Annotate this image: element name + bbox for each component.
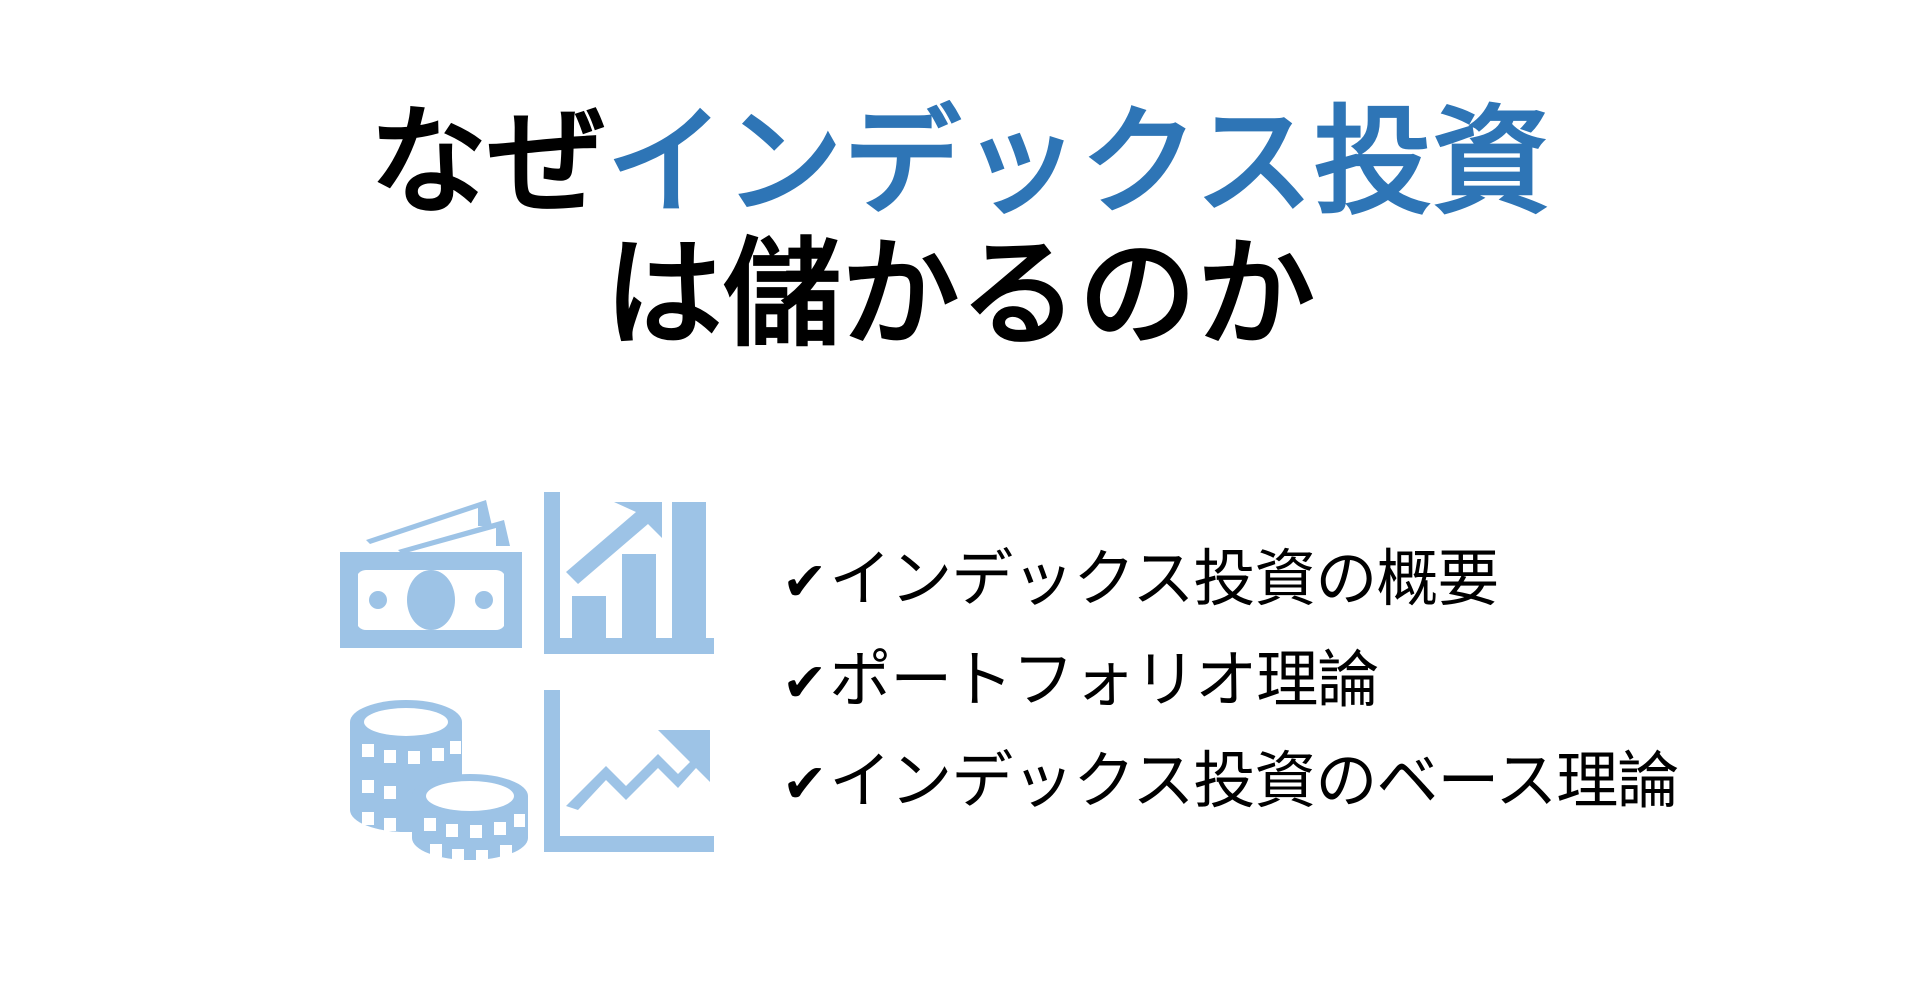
list-item: ✔ インデックス投資の概要 <box>782 530 1902 631</box>
list-item: ✔ ポートフォリオ理論 <box>782 631 1902 732</box>
slide-title: なぜインデックス投資 は儲かるのか <box>0 96 1920 360</box>
title-part-blue: インデックス投資 <box>606 93 1550 231</box>
presentation-slide: なぜインデックス投資 は儲かるのか <box>0 0 1920 1005</box>
line-chart-growth-icon <box>544 686 744 872</box>
list-item-label: インデックス投資のベース理論 <box>829 732 1678 830</box>
check-icon: ✔ <box>782 634 827 732</box>
list-item-label: ポートフォリオ理論 <box>829 631 1378 729</box>
banknote-icon <box>336 488 536 674</box>
title-line-1: なぜインデックス投資 <box>0 96 1920 228</box>
list-item-label: インデックス投資の概要 <box>829 530 1498 628</box>
check-icon: ✔ <box>782 735 827 833</box>
icon-grid <box>336 488 744 880</box>
coins-stack-icon <box>336 686 536 872</box>
check-icon: ✔ <box>782 533 827 631</box>
bar-chart-growth-icon <box>544 488 744 674</box>
title-line-2: は儲かるのか <box>0 228 1920 360</box>
list-item: ✔ インデックス投資のベース理論 <box>782 732 1902 833</box>
title-part-black: なぜ <box>369 93 606 231</box>
bullet-list: ✔ インデックス投資の概要 ✔ ポートフォリオ理論 ✔ インデックス投資のベース… <box>782 530 1902 833</box>
